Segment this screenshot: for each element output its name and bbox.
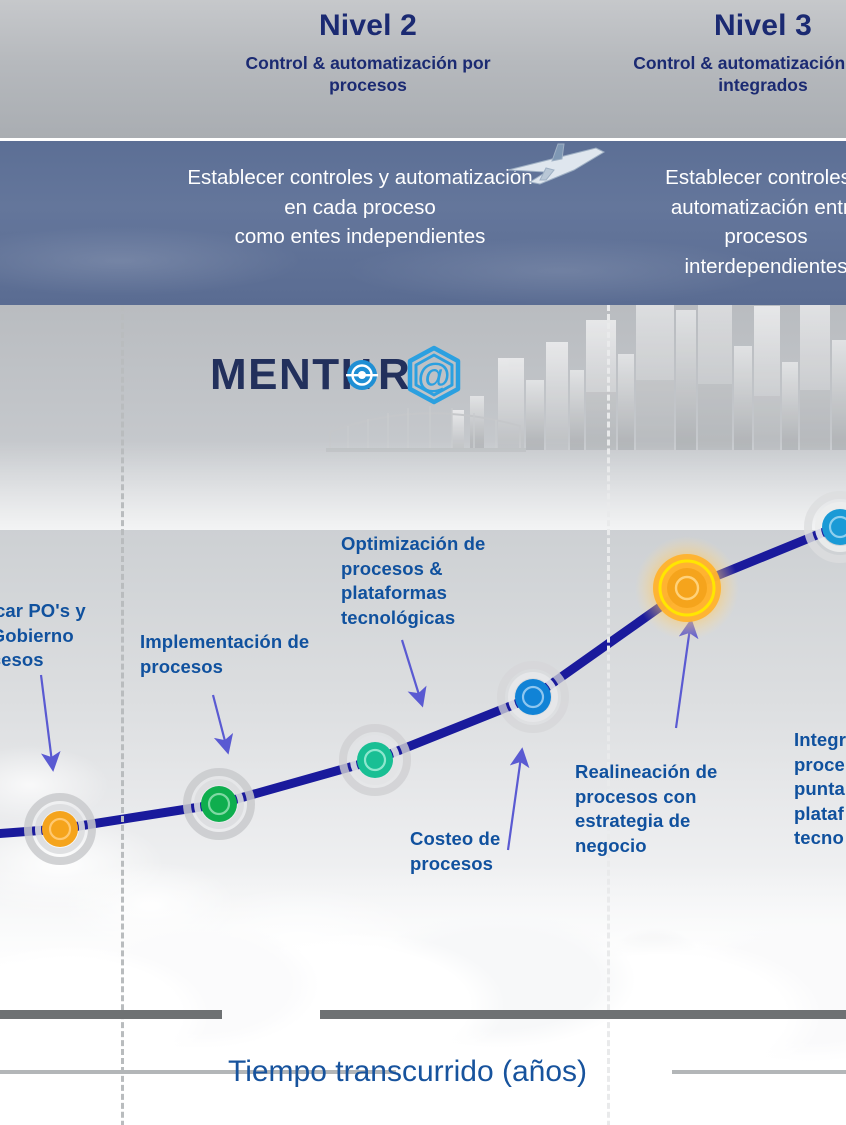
level-header-3: Nivel 3 Control & automatización entre i… <box>617 10 846 97</box>
milestone-label-3: Costeo de procesos <box>410 827 560 876</box>
level-3-desc-line1: Establecer controles y <box>616 163 846 193</box>
arrow-node-0 <box>41 675 52 762</box>
logo-at-hexagon: @ <box>410 348 458 402</box>
milestone-label-1-line2: procesos <box>140 655 330 680</box>
chart-svg <box>0 305 846 1125</box>
level-2-desc-line3: como entes independientes <box>130 222 590 252</box>
milestone-label-0-line2: & Gobierno <box>0 624 142 649</box>
level-2-title: Nivel 2 <box>203 10 533 42</box>
level-1-desc-line1: de los <box>0 163 40 193</box>
milestone-label-0-line3: rocesos <box>0 648 142 673</box>
milestone-label-2-line4: tecnológicas <box>341 606 501 631</box>
milestone-label-1: Implementación de procesos <box>140 630 330 679</box>
milestone-node-3 <box>501 665 565 729</box>
milestone-label-4-line3: estrategia de <box>575 809 745 834</box>
milestone-node-1 <box>187 772 251 836</box>
slide-canvas: n Nivel 2 Control & automatización por p… <box>0 0 846 1125</box>
axis-line-right <box>672 1070 846 1074</box>
milestone-label-3-line1: Costeo de <box>410 827 560 852</box>
milestone-label-4-line4: negocio <box>575 834 745 859</box>
milestone-label-4: Realineación de procesos con estrategia … <box>575 760 745 858</box>
level-3-description: Establecer controles y automatización en… <box>616 163 846 282</box>
milestone-label-2-line1: Optimización de <box>341 532 501 557</box>
level-3-subtitle-line1: Control & automatización entre <box>617 52 846 75</box>
milestone-label-5-line1: Integr <box>794 728 846 753</box>
level-3-desc-line3: procesos <box>616 222 846 252</box>
airplane-icon <box>500 140 610 186</box>
logo-wordmark-part2: R <box>378 350 411 399</box>
level-divider-2 <box>607 305 610 1125</box>
milestone-label-5-line3: punta <box>794 777 846 802</box>
milestone-label-5-line2: proce <box>794 753 846 778</box>
levels-header-band: n Nivel 2 Control & automatización por p… <box>0 0 846 138</box>
milestone-label-2-line3: plataformas <box>341 581 501 606</box>
milestone-label-3-line2: procesos <box>410 852 560 877</box>
menthor-logo: MENTH R @ <box>210 345 495 405</box>
milestone-label-0: tificar PO's y & Gobierno rocesos <box>0 599 142 673</box>
level-3-desc-line4: interdependientes <box>616 252 846 282</box>
milestone-label-2: Optimización de procesos & plataformas t… <box>341 532 501 630</box>
arrow-node-4 <box>676 628 690 728</box>
milestone-node-0 <box>28 797 92 861</box>
level-1-description: de los ntación) <box>0 163 40 252</box>
arrow-node-1 <box>213 695 226 745</box>
arrow-node-2 <box>402 640 420 698</box>
level-2-subtitle-line2: procesos <box>203 74 533 97</box>
level-1-subtitle-fragment: n <box>0 64 60 87</box>
x-axis-label: Tiempo transcurrido (años) <box>228 1055 587 1089</box>
milestone-label-2-line2: procesos & <box>341 557 501 582</box>
milestone-label-5-line5: tecno <box>794 826 846 851</box>
level-3-desc-line2: automatización entre <box>616 193 846 223</box>
level-header-2: Nivel 2 Control & automatización por pro… <box>203 10 533 97</box>
level-3-title: Nivel 3 <box>617 10 846 42</box>
milestone-label-4-line1: Realineación de <box>575 760 745 785</box>
level-descriptions-band: de los ntación) Establecer controles y a… <box>0 141 846 305</box>
milestone-label-5: Integr proce punta plataf tecno <box>794 728 846 851</box>
maturity-chart: tificar PO's y & Gobierno rocesos Implem… <box>0 305 846 1125</box>
level-header-1: n <box>0 12 60 87</box>
logo-at-symbol: @ <box>417 357 450 395</box>
level-divider-1 <box>121 305 124 1125</box>
milestone-node-5 <box>808 495 846 559</box>
milestone-label-1-line1: Implementación de <box>140 630 330 655</box>
axis-bar-left <box>0 1010 222 1019</box>
milestone-label-4-line2: procesos con <box>575 785 745 810</box>
milestone-node-4 <box>635 536 739 640</box>
milestone-label-5-line4: plataf <box>794 802 846 827</box>
axis-bar-right <box>320 1010 846 1019</box>
milestone-node-2 <box>343 728 407 792</box>
milestone-label-0-line1: tificar PO's y <box>0 599 142 624</box>
level-3-subtitle-line2: integrados <box>617 74 846 97</box>
level-2-desc-line2: en cada proceso <box>130 193 590 223</box>
level-2-subtitle-line1: Control & automatización por <box>203 52 533 75</box>
level-1-desc-line2: ntación) <box>0 223 40 253</box>
